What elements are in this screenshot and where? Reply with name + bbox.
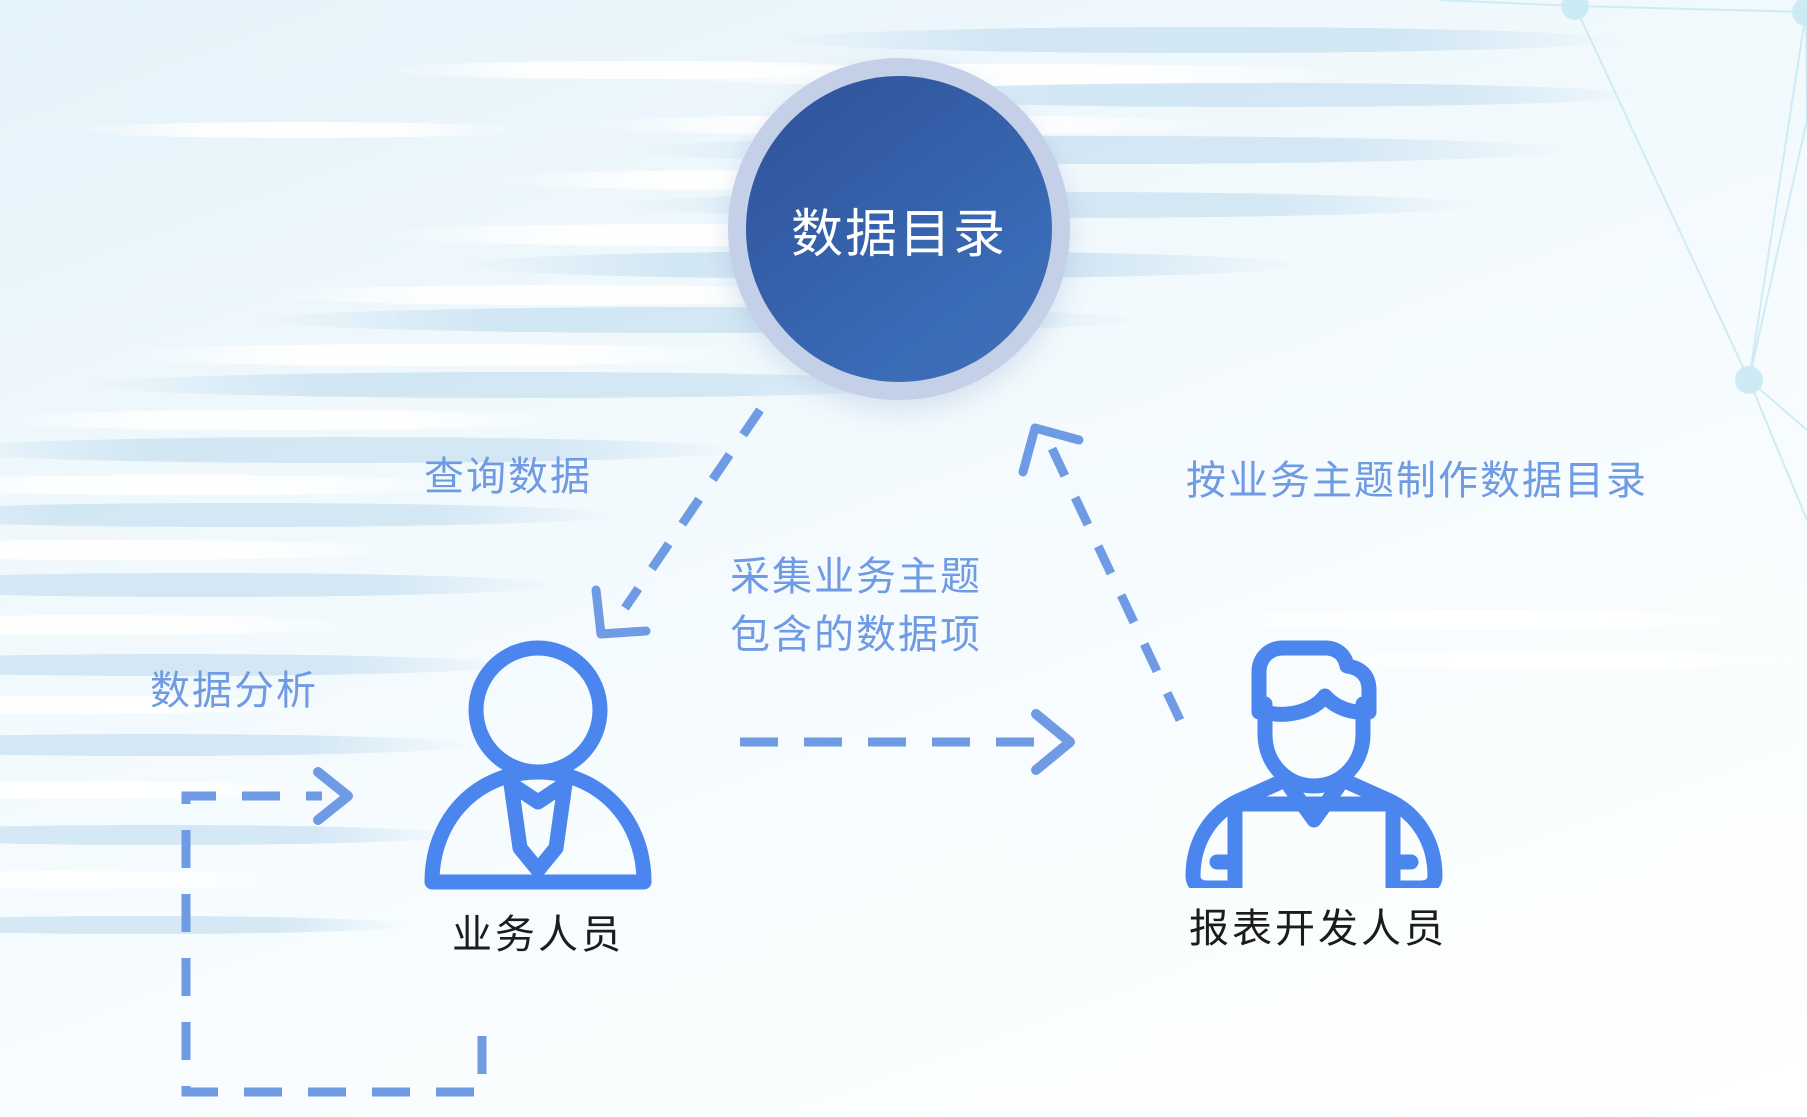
edge-collect-data-items: [740, 714, 1070, 770]
edge-label-collect-line2: 包含的数据项: [730, 606, 982, 664]
actor-report-developer[interactable]: 报表开发人员: [1148, 608, 1488, 954]
actor-business-person[interactable]: 业务人员: [388, 638, 688, 960]
edge-label-collect-data-items: 采集业务主题 包含的数据项: [730, 548, 982, 664]
edge-label-data-analysis: 数据分析: [150, 662, 318, 720]
data-catalog-node[interactable]: 数据目录: [728, 58, 1070, 400]
actor-business-person-label: 业务人员: [452, 902, 624, 960]
actor-report-developer-label: 报表开发人员: [1189, 896, 1447, 954]
edge-label-collect-line1: 采集业务主题: [730, 548, 982, 606]
diagram-canvas: 数据目录 查询数据 数据分析 采集业务主题 包含的数据项 按业务主题制作数据目录…: [0, 0, 1807, 1117]
person-with-tie-icon: [406, 638, 670, 894]
data-catalog-node-fill: 数据目录: [746, 76, 1052, 382]
data-catalog-label: 数据目录: [791, 192, 1007, 267]
edge-label-make-catalog: 按业务主题制作数据目录: [1186, 452, 1648, 510]
developer-with-laptop-icon: [1173, 608, 1463, 888]
edge-label-query-data: 查询数据: [424, 448, 592, 506]
